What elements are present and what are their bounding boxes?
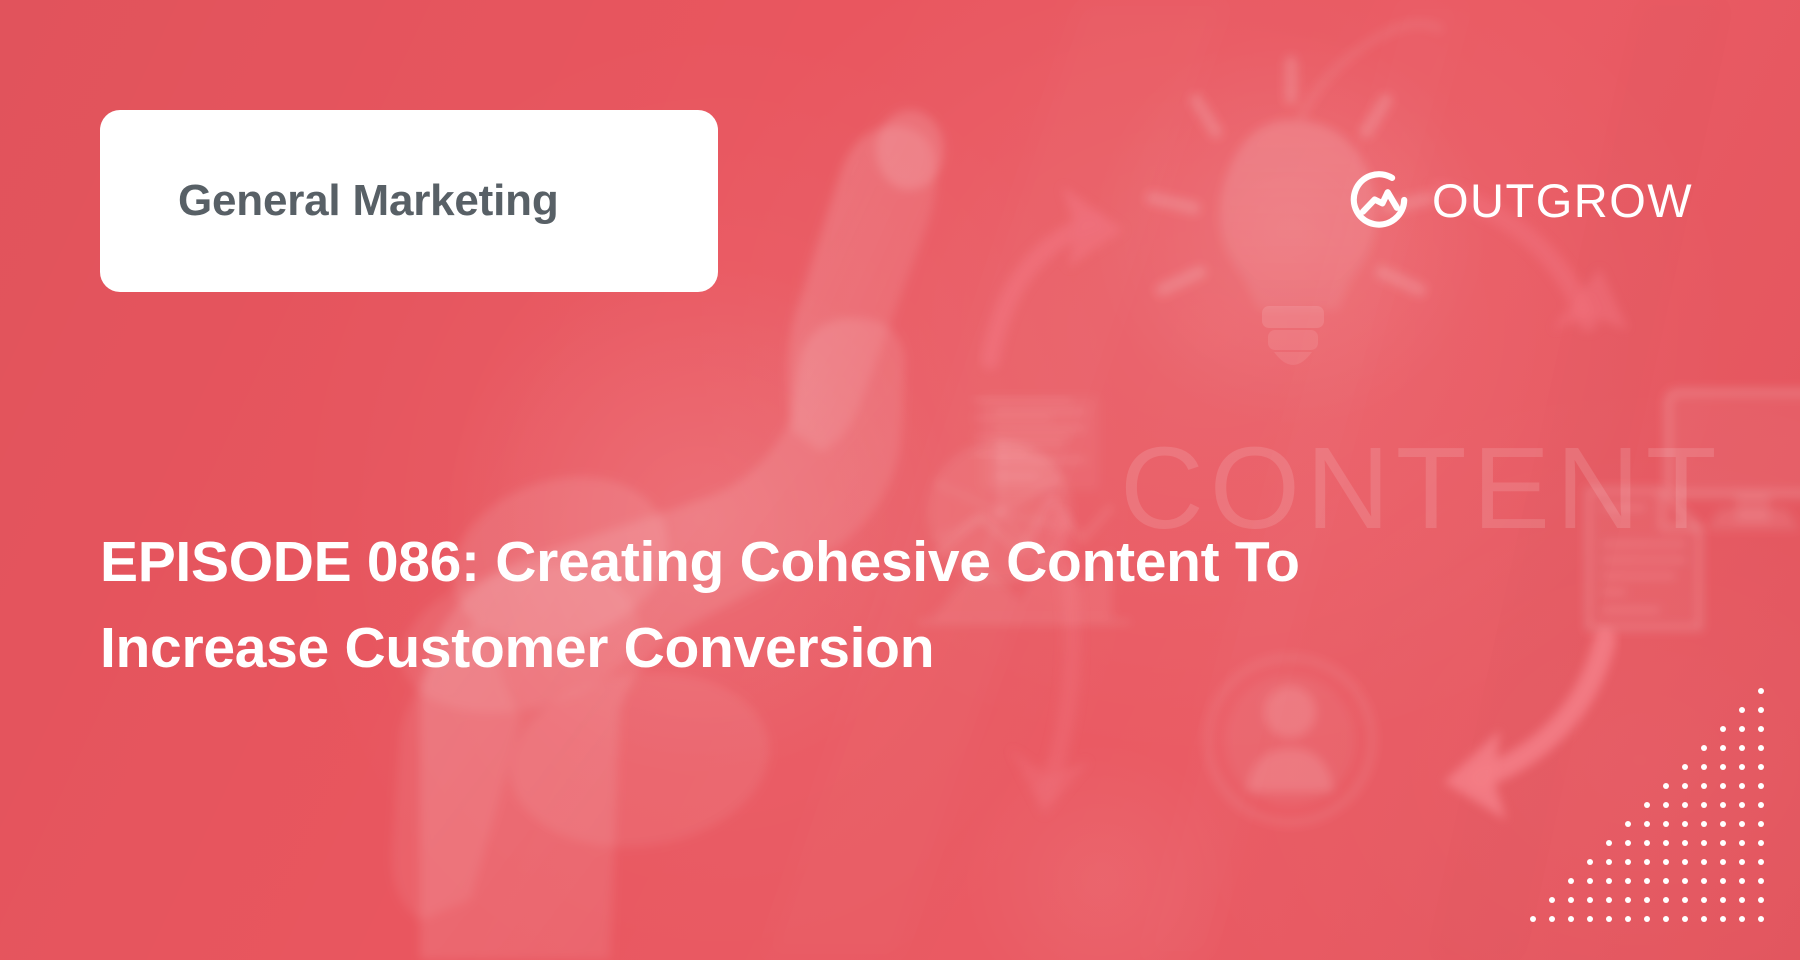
curved-arrow-up-right [990,186,1124,360]
curved-arrow-left [1444,640,1605,820]
page-title: EPISODE 086: Creating Cohesive Content T… [100,520,1340,691]
outgrow-circle-wave-logo-icon [1348,169,1410,231]
brand-name: OUTGROW [1432,177,1693,224]
monitor-icon [1668,392,1800,530]
dot-triangle-pattern [1514,688,1766,924]
category-badge-label: General Marketing [178,176,559,226]
document-icon [1588,490,1700,628]
brand-logo[interactable]: OUTGROW [1348,168,1693,232]
category-badge[interactable]: General Marketing [100,110,718,292]
text-block-icon [980,395,1100,491]
podcast-episode-banner: CONTENT General Marketing OUTGROW EPISOD… [0,0,1800,960]
text-block-icon-secondary [972,400,1072,454]
